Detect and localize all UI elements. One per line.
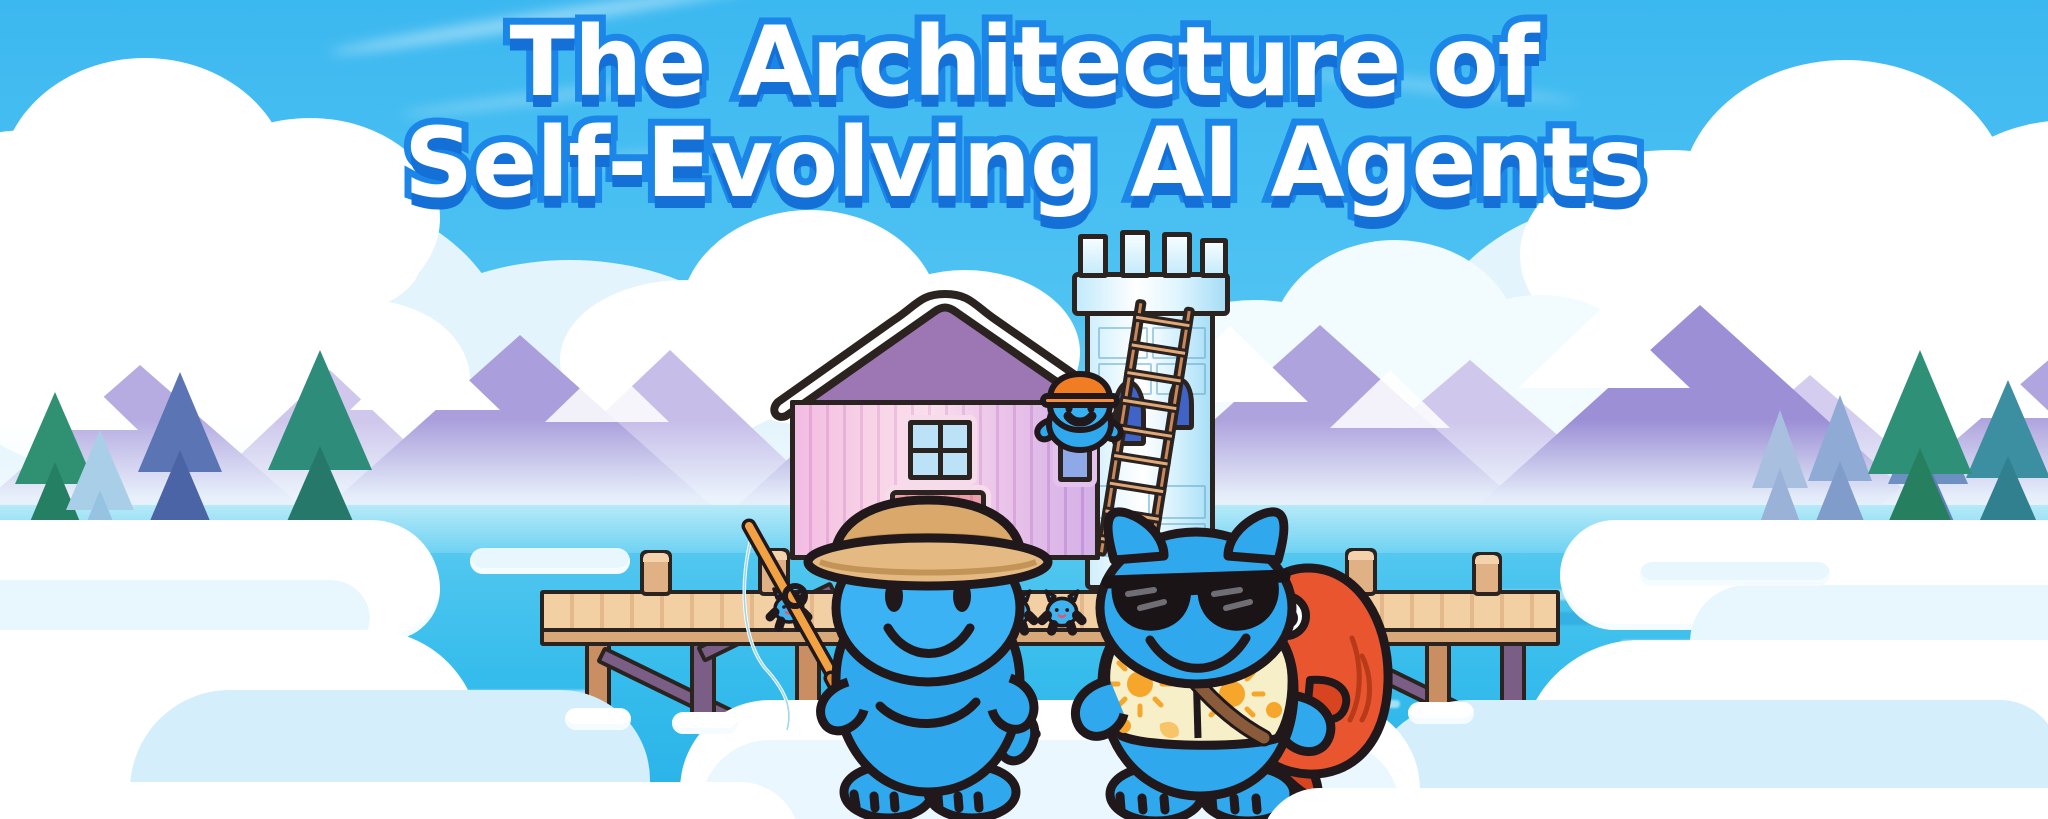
character-cool-cat [1036, 498, 1366, 819]
window-mullion [913, 448, 967, 453]
dock-post [640, 550, 672, 596]
foreground-ice [1260, 788, 2048, 819]
tower-crenellation [1200, 238, 1228, 278]
tower-crenellation [1120, 230, 1150, 278]
ice-floe-small [470, 548, 630, 574]
foreground-ice [0, 782, 800, 819]
piling-snow [565, 708, 631, 730]
house-window [908, 420, 972, 480]
tower-crenellation [1078, 234, 1108, 278]
title-line-1: The Architecture of [0, 18, 2048, 107]
character-builder [1030, 368, 1130, 460]
ice-floe-small [1640, 562, 1830, 586]
title-line-2: Self-Evolving AI Agents [0, 119, 2048, 208]
header-illustration: The Architecture of Self-Evolving AI Age… [0, 0, 2048, 819]
dock-post [1472, 552, 1502, 596]
piling-snow [672, 712, 738, 734]
character-fisherman [776, 500, 1076, 819]
page-title: The Architecture of Self-Evolving AI Age… [0, 18, 2048, 209]
piling-snow [1408, 702, 1474, 724]
tower-crenellation [1162, 232, 1192, 278]
